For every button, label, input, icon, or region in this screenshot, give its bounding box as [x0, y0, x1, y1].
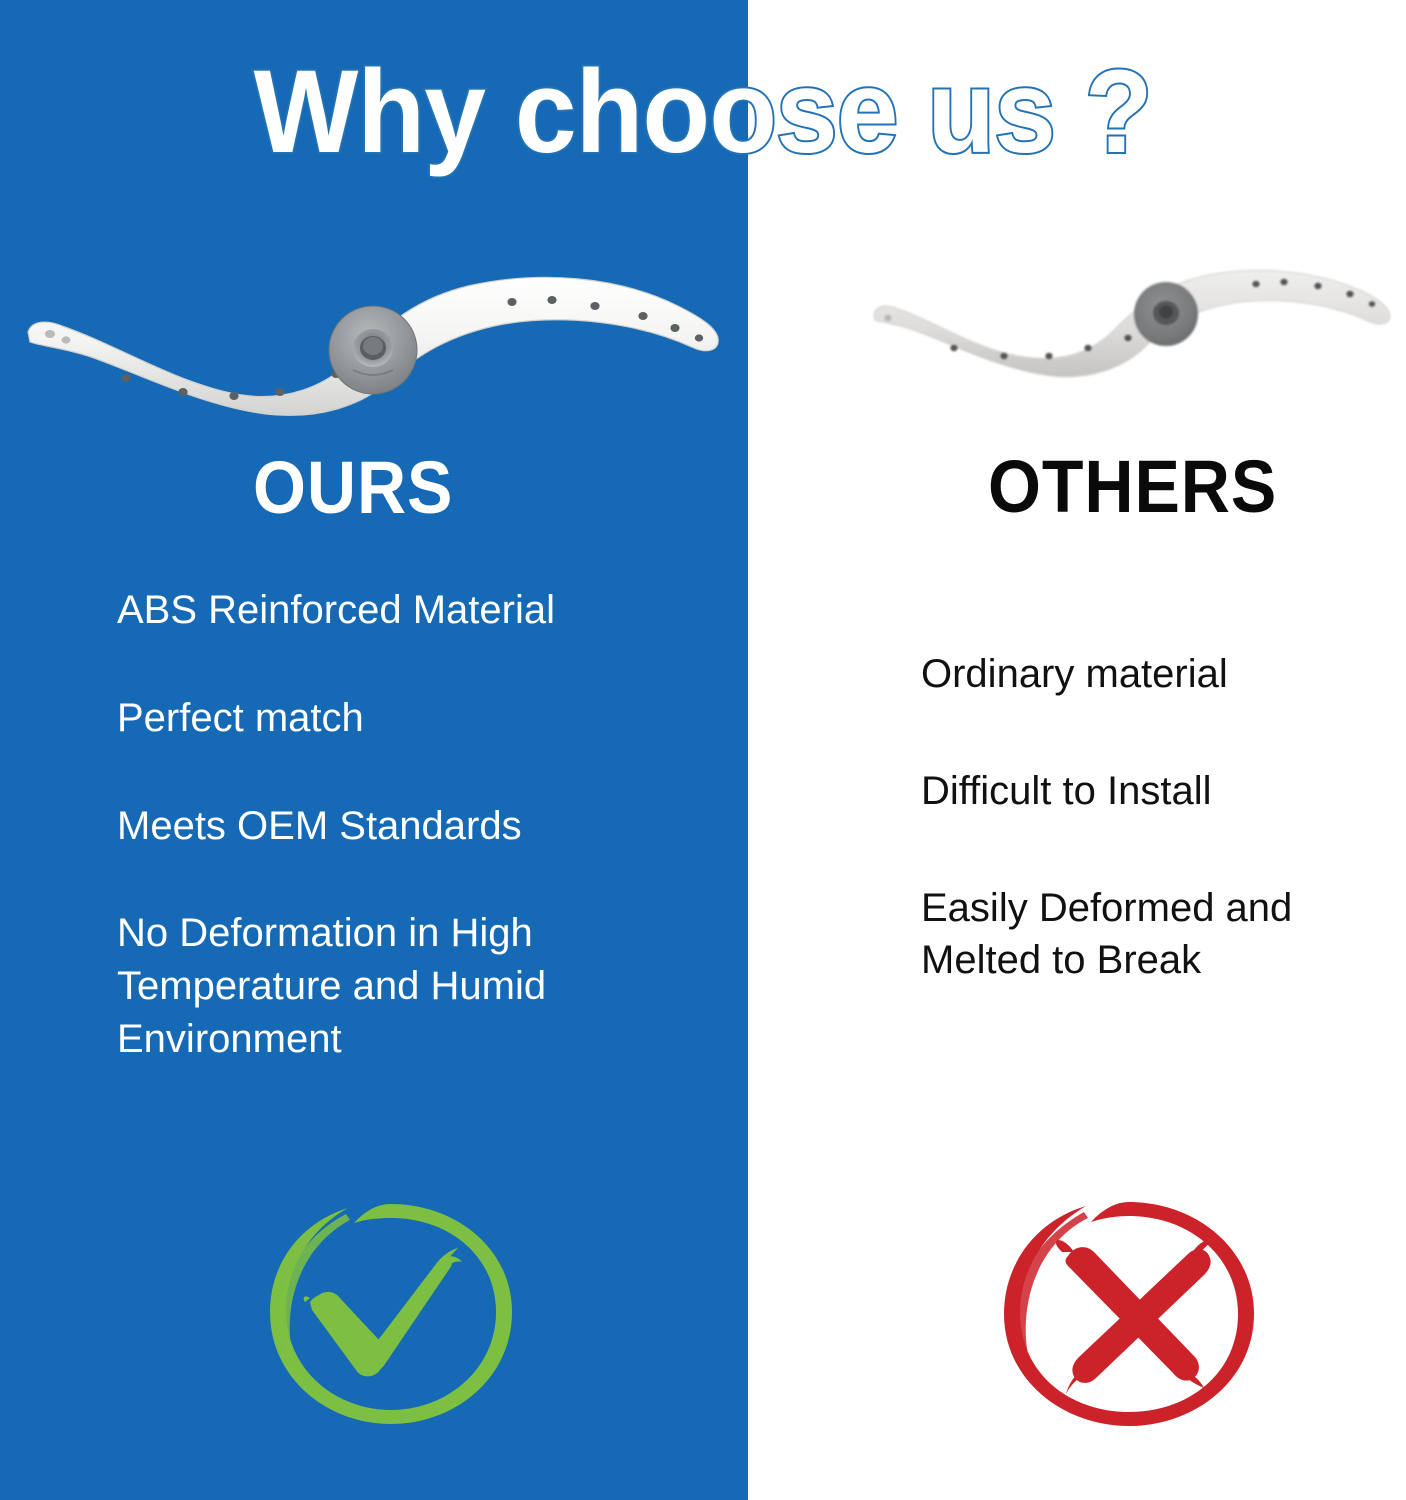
ours-feature-item: No Deformation in High Temperature and H…: [117, 907, 677, 1065]
others-heading: OTHERS: [988, 450, 1277, 524]
others-feature-item: Difficult to Install: [921, 765, 1371, 818]
check-circle-icon: [250, 1198, 532, 1430]
others-feature-item: Easily Deformed and Melted to Break: [921, 882, 1371, 988]
others-feature-item: Ordinary material: [921, 648, 1371, 701]
ours-feature-item: Perfect match: [117, 692, 677, 745]
others-product-image: [866, 252, 1394, 388]
ours-product-image: [18, 258, 724, 430]
ours-feature-item: ABS Reinforced Material: [117, 584, 677, 637]
cross-circle-icon: [988, 1196, 1270, 1432]
ours-feature-item: Meets OEM Standards: [117, 800, 677, 853]
ours-heading: OURS: [253, 451, 453, 525]
ours-feature-list: ABS Reinforced Material Perfect match Me…: [117, 584, 677, 1066]
generic-spray-arm-body: [874, 270, 1390, 376]
others-feature-list: Ordinary material Difficult to Install E…: [921, 648, 1371, 987]
why-choose-us-poster: Why choose us ?: [0, 0, 1406, 1500]
